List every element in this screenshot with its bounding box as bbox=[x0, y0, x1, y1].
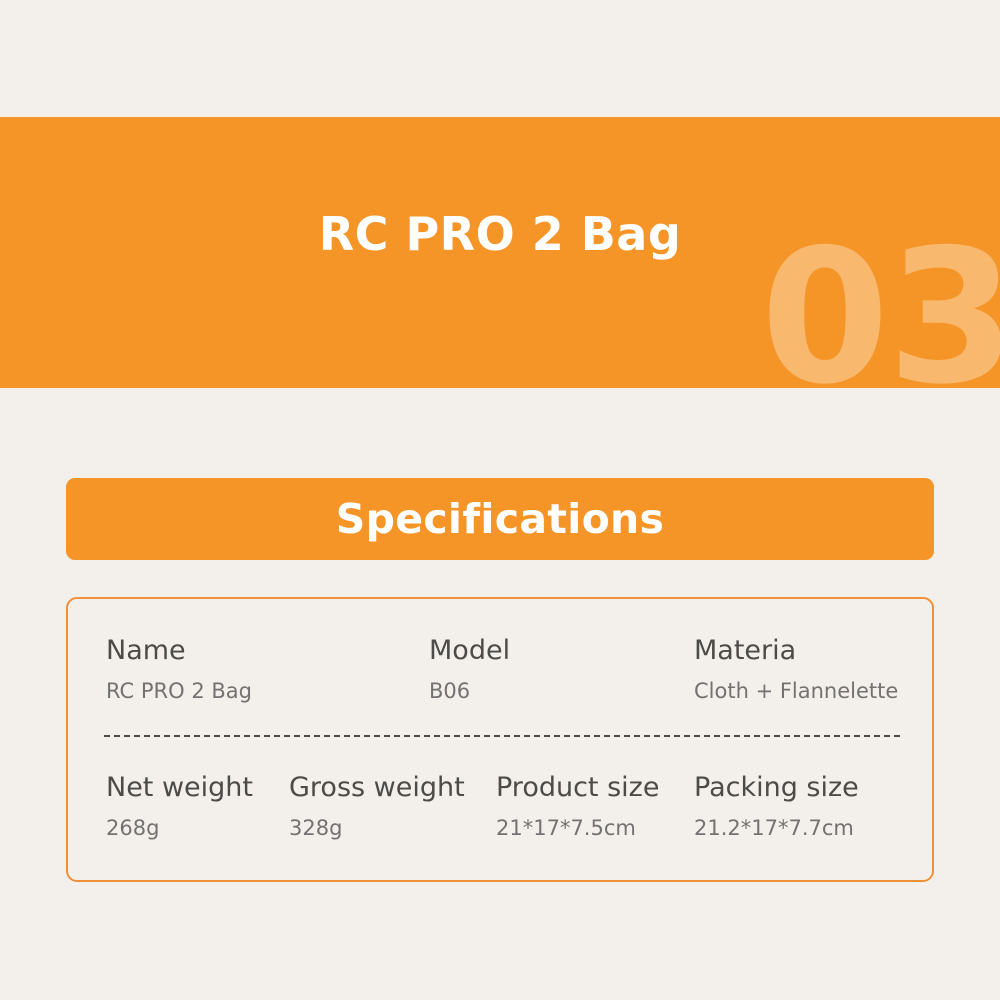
spec-value-net-weight: 268g bbox=[106, 818, 253, 839]
spec-cell-model: Model B06 bbox=[429, 637, 510, 702]
spec-cell-product-size: Product size 21*17*7.5cm bbox=[496, 774, 659, 839]
product-title: RC PRO 2 Bag bbox=[0, 117, 1000, 388]
specifications-heading-label: Specifications bbox=[336, 495, 665, 543]
spec-value-gross-weight: 328g bbox=[289, 818, 465, 839]
specifications-card: Name RC PRO 2 Bag Model B06 Materia Clot… bbox=[66, 597, 934, 882]
specifications-divider bbox=[104, 735, 900, 737]
spec-value-materia: Cloth + Flannelette bbox=[694, 681, 898, 702]
spec-value-model: B06 bbox=[429, 681, 510, 702]
spec-value-name: RC PRO 2 Bag bbox=[106, 681, 252, 702]
spec-label-name: Name bbox=[106, 637, 252, 664]
spec-value-product-size: 21*17*7.5cm bbox=[496, 818, 659, 839]
specifications-heading-bar: Specifications bbox=[66, 478, 934, 560]
spec-label-model: Model bbox=[429, 637, 510, 664]
spec-label-net-weight: Net weight bbox=[106, 774, 253, 801]
spec-cell-net-weight: Net weight 268g bbox=[106, 774, 253, 839]
spec-label-product-size: Product size bbox=[496, 774, 659, 801]
spec-value-packing-size: 21.2*17*7.7cm bbox=[694, 818, 859, 839]
spec-label-materia: Materia bbox=[694, 637, 898, 664]
spec-cell-name: Name RC PRO 2 Bag bbox=[106, 637, 252, 702]
product-header-banner: 03 RC PRO 2 Bag bbox=[0, 117, 1000, 388]
spec-label-gross-weight: Gross weight bbox=[289, 774, 465, 801]
spec-cell-packing-size: Packing size 21.2*17*7.7cm bbox=[694, 774, 859, 839]
spec-cell-materia: Materia Cloth + Flannelette bbox=[694, 637, 898, 702]
spec-cell-gross-weight: Gross weight 328g bbox=[289, 774, 465, 839]
spec-label-packing-size: Packing size bbox=[694, 774, 859, 801]
